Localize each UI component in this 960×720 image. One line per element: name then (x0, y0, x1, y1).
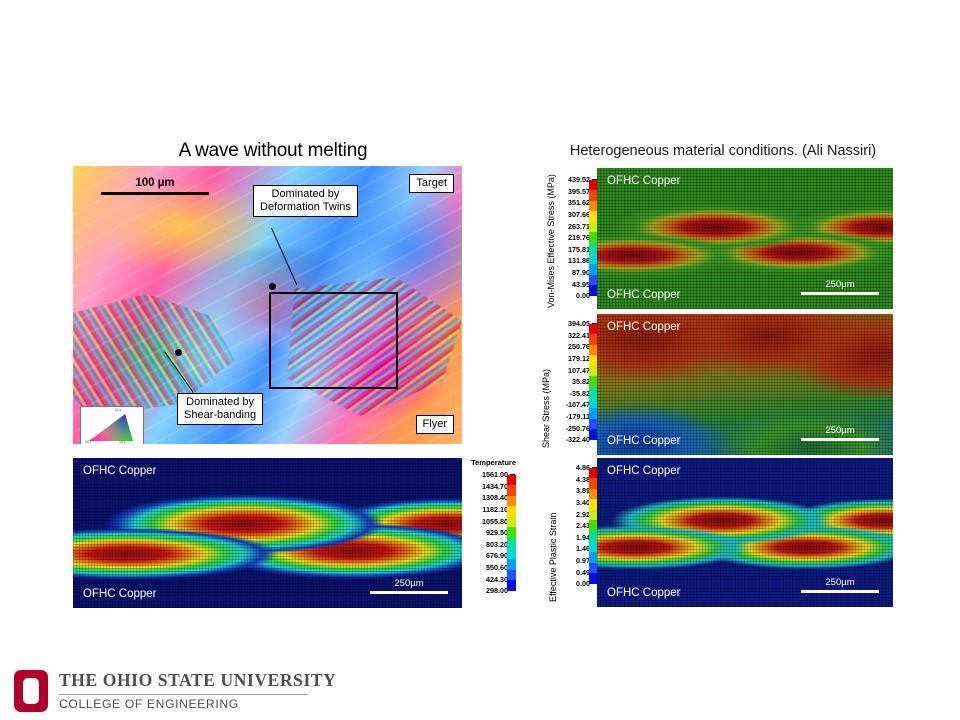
colorbar-temperature-title: Temperature (466, 458, 516, 467)
colorbar-tick-label: 676.90 (486, 552, 508, 559)
colorbar-von-mises-axis-label: Von-Mises Effective Stress (MPa) (546, 168, 556, 308)
ipf-color-key: 111 001 101 (80, 406, 144, 444)
colorbar-tick-label: -250.76 (566, 425, 590, 432)
panel-temperature-material-bottom: OFHC Copper (83, 588, 157, 600)
colorbar-tick-label: 263.71 (568, 223, 590, 230)
panel-temperature-material-top: OFHC Copper (83, 465, 157, 477)
colorbar-tick-label: 307.66 (568, 211, 590, 218)
ipf-label-111: 111 (115, 408, 121, 412)
colorbar-segment (507, 559, 516, 570)
colorbar-temperature-scale: 1561.001434.701308.401182.101055.80929.5… (466, 469, 516, 597)
colorbar-tick-label: 43.95 (572, 281, 590, 288)
colorbar-tick-label: 3.40 (576, 499, 590, 506)
colorbar-color-strip (507, 475, 516, 591)
colorbar-tick-label: 3.89 (576, 487, 590, 494)
ipf-label-101: 101 (119, 440, 126, 444)
ipf-triangle (89, 414, 133, 441)
colorbar-plastic-strain-scale: 4.864.383.893.402.922.431.941.460.970.49… (558, 462, 598, 590)
panel-shear-material-bottom: OFHC Copper (607, 435, 681, 447)
ipf-label-001: 001 (85, 440, 92, 444)
colorbar-plastic-strain-axis-label: Effective Plastic Strain (548, 462, 558, 602)
colorbar-tick-label: 87.90 (572, 269, 590, 276)
panel-plastic-strain-material-bottom: OFHC Copper (607, 587, 681, 599)
colorbar-tick-label: 394.05 (568, 320, 590, 327)
colorbar-tick-label: -107.47 (566, 401, 590, 408)
annotation-shear-banding: Dominated by Shear-banding (177, 393, 263, 425)
colorbar-tick-label: 250.76 (568, 343, 590, 350)
panel-temperature: OFHC Copper OFHC Copper 250µm (73, 458, 462, 608)
osu-logo-line2: COLLEGE OF ENGINEERING (59, 697, 239, 711)
osu-block-o-icon (14, 670, 48, 712)
colorbar-tick-label: 1.46 (576, 545, 590, 552)
panel-von-mises: OFHC Copper OFHC Copper 250µm (597, 168, 893, 309)
colorbar-segment (507, 496, 516, 507)
colorbar-segment (507, 538, 516, 549)
colorbar-tick-label: 1434.70 (482, 483, 508, 490)
colorbar-segment (507, 485, 516, 496)
leader-dot-twins (269, 283, 276, 290)
colorbar-tick-label: 298.00 (486, 587, 508, 594)
ebsd-scalebar: 100 µm (101, 176, 209, 195)
colorbar-tick-label: 550.60 (486, 564, 508, 571)
page-title-left: A wave without melting (73, 140, 473, 162)
ebsd-micrograph: 100 µm Target Flyer Dominated by Deforma… (73, 166, 462, 444)
colorbar-tick-label: 107.47 (568, 367, 590, 374)
colorbar-shear-scale: 394.05322.41250.76179.12107.4735.82-35.8… (551, 318, 598, 446)
colorbar-tick-label: 803.20 (486, 541, 508, 548)
panel-von-mises-scalebar: 250µm (801, 279, 879, 295)
osu-logo-line1: THE OHIO STATE UNIVERSITY (59, 670, 336, 691)
colorbar-tick-label: 1561.00 (482, 471, 508, 478)
panel-von-mises-material-bottom: OFHC Copper (607, 289, 681, 301)
colorbar-segment (507, 506, 516, 517)
colorbar-tick-label: 1.94 (576, 534, 590, 541)
colorbar-tick-label: 35.82 (572, 378, 590, 385)
panel-von-mises-scalebar-label: 250µm (801, 279, 879, 290)
panel-shear-scalebar: 250µm (801, 425, 879, 441)
colorbar-tick-label: 322.41 (568, 332, 590, 339)
page-title-right: Heterogeneous material conditions. (Ali … (538, 143, 908, 159)
colorbar-temperature: Temperature 1561.001434.701308.401182.10… (466, 458, 516, 597)
colorbar-plastic-strain: 4.864.383.893.402.922.431.941.460.970.49… (558, 460, 598, 590)
colorbar-tick-label: 929.50 (486, 529, 508, 536)
panel-temperature-scalebar-line (370, 591, 448, 594)
colorbar-von-mises-scale: 439.52395.57351.62307.66263.71219.76175.… (556, 174, 598, 302)
colorbar-segment (507, 580, 516, 591)
panel-temperature-scalebar: 250µm (370, 578, 448, 594)
colorbar-tick-label: -179.11 (566, 413, 590, 420)
panel-shear-material-top: OFHC Copper (607, 321, 681, 333)
colorbar-segment (507, 527, 516, 538)
colorbar-tick-label: 439.52 (568, 176, 590, 183)
panel-plastic-strain-material-top: OFHC Copper (607, 465, 681, 477)
annotation-deformation-twins: Dominated by Deformation Twins (253, 185, 358, 217)
colorbar-tick-label: 0.00 (576, 292, 590, 299)
panel-plastic-strain-scalebar-label: 250µm (801, 577, 879, 588)
panel-plastic-strain: OFHC Copper OFHC Copper 250µm (597, 458, 893, 607)
colorbar-tick-label: 4.38 (576, 476, 590, 483)
colorbar-tick-label: 179.12 (568, 355, 590, 362)
colorbar-tick-label: 351.62 (568, 199, 590, 206)
panel-plastic-strain-scalebar: 250µm (801, 577, 879, 593)
ebsd-scalebar-label: 100 µm (101, 176, 209, 190)
label-target: Target (409, 174, 454, 193)
colorbar-tick-label: 2.92 (576, 511, 590, 518)
colorbar-von-mises: 439.52395.57351.62307.66263.71219.76175.… (556, 172, 598, 302)
colorbar-tick-label: 0.97 (576, 557, 590, 564)
colorbar-tick-label: 219.76 (568, 234, 590, 241)
region-of-interest-box (269, 292, 398, 389)
panel-von-mises-scalebar-line (801, 292, 879, 295)
colorbar-tick-label: -322.40 (566, 436, 590, 443)
panel-temperature-scalebar-label: 250µm (370, 578, 448, 589)
colorbar-shear: 394.05322.41250.76179.12107.4735.82-35.8… (551, 316, 598, 446)
colorbar-tick-label: 1055.80 (482, 518, 508, 525)
colorbar-tick-label: 0.00 (576, 580, 590, 587)
colorbar-tick-label: 175.81 (568, 246, 590, 253)
colorbar-tick-label: 1308.40 (482, 494, 508, 501)
panel-shear-scalebar-label: 250µm (801, 425, 879, 436)
colorbar-tick-label: 0.49 (576, 569, 590, 576)
panel-plastic-strain-scalebar-line (801, 590, 879, 593)
panel-shear-stress: OFHC Copper OFHC Copper 250µm (597, 314, 893, 455)
colorbar-tick-label: 424.30 (486, 576, 508, 583)
colorbar-shear-axis-label: Shear Stress (MPa) (541, 318, 551, 448)
colorbar-tick-label: 395.57 (568, 188, 590, 195)
colorbar-tick-label: 1182.10 (482, 506, 508, 513)
colorbar-tick-label: 4.86 (576, 464, 590, 471)
osu-logo-divider (59, 694, 308, 695)
colorbar-segment (507, 517, 516, 528)
label-flyer: Flyer (416, 415, 454, 434)
colorbar-segment (507, 549, 516, 560)
panel-von-mises-material-top: OFHC Copper (607, 175, 681, 187)
colorbar-segment (507, 475, 516, 486)
slide-root: A wave without melting 100 µm Target Fly… (0, 0, 960, 720)
colorbar-tick-label: 131.86 (568, 257, 590, 264)
panel-shear-scalebar-line (801, 438, 879, 441)
colorbar-tick-label: -35.82 (570, 390, 590, 397)
ebsd-scalebar-line (101, 192, 209, 195)
leader-dot-shear (175, 349, 182, 356)
colorbar-segment (507, 570, 516, 581)
colorbar-tick-label: 2.43 (576, 522, 590, 529)
